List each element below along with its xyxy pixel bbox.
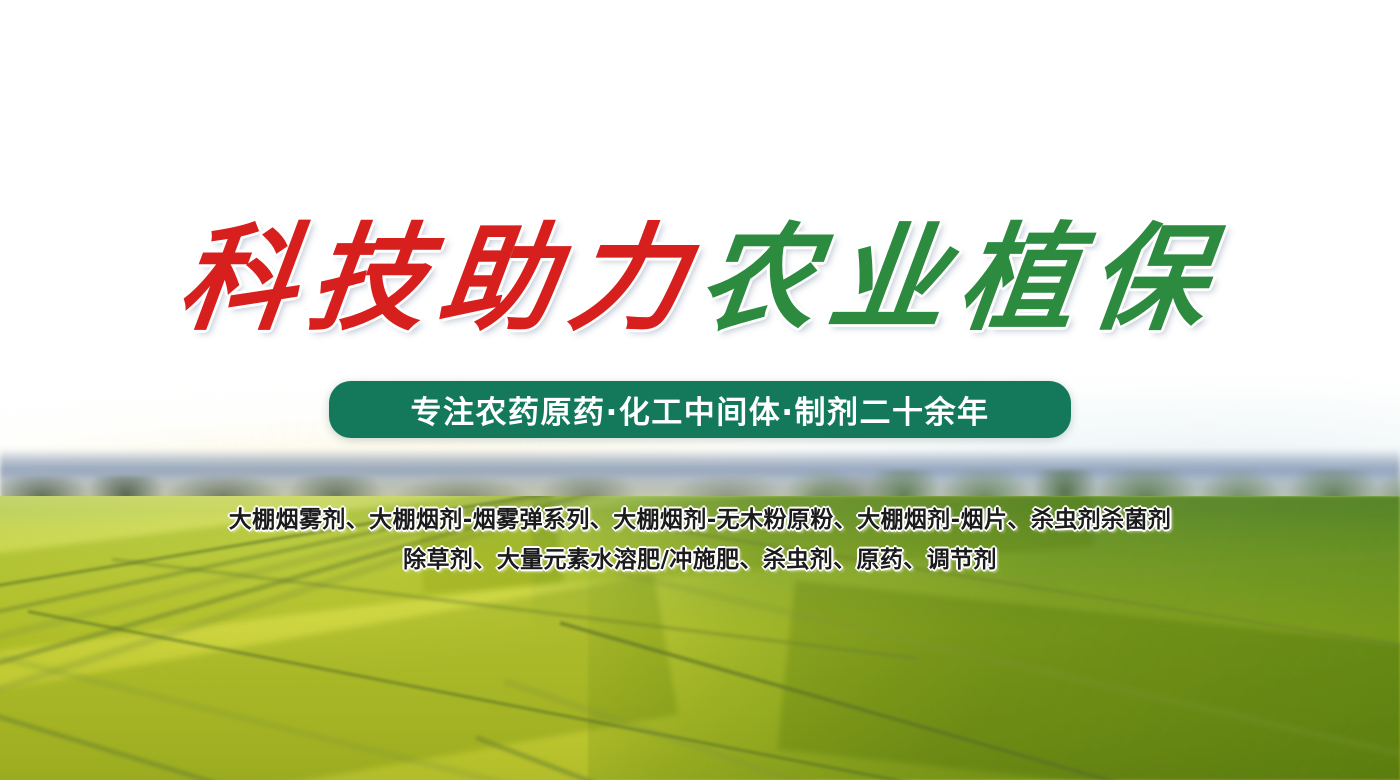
subtitle-text: 专注农药原药·化工中间体·制剂二十余年 [410, 387, 989, 432]
product-line-1: 大棚烟雾剂、大棚烟剂-烟雾弹系列、大棚烟剂-无木粉原粉、大棚烟剂-烟片、杀虫剂杀… [0, 500, 1400, 540]
banner-title: 科技助力农业植保 [0, 205, 1400, 353]
title-red-text: 科技助力 [171, 205, 709, 353]
product-line-2: 除草剂、大量元素水溶肥/冲施肥、杀虫剂、原药、调节剂 [0, 540, 1400, 580]
title-green-text: 农业植保 [691, 205, 1229, 353]
subtitle-pill: 专注农药原药·化工中间体·制剂二十余年 [329, 381, 1071, 438]
hero-banner: 科技助力农业植保 专注农药原药·化工中间体·制剂二十余年 大棚烟雾剂、大棚烟剂-… [0, 0, 1400, 780]
product-list: 大棚烟雾剂、大棚烟剂-烟雾弹系列、大棚烟剂-无木粉原粉、大棚烟剂-烟片、杀虫剂杀… [0, 500, 1400, 580]
